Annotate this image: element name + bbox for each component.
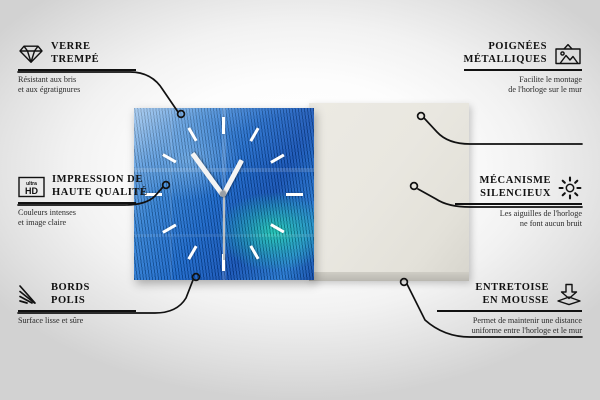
callout-title-line2: SILENCIEUX <box>480 188 551 201</box>
callout-title-line1: IMPRESSION DE <box>52 174 148 187</box>
callout-entretoise-en-mousse: ENTRETOISE EN MOUSSE Permet de maintenir… <box>437 282 582 336</box>
callout-desc-line2: et image claire <box>18 218 136 228</box>
callout-desc-line2: de l'horloge sur le mur <box>464 85 582 95</box>
callout-rule <box>464 69 582 71</box>
callout-bords-polis: BORDS POLIS Surface lisse et sûre <box>18 282 136 326</box>
callout-rule <box>18 69 136 71</box>
callout-title-line2: EN MOUSSE <box>475 295 549 308</box>
callout-rule <box>437 310 582 312</box>
callout-desc-line1: Résistant aux bris <box>18 75 136 85</box>
gear-icon <box>558 176 582 200</box>
callout-mecanisme-silencieux: MÉCANISME SILENCIEUX Les aiguilles de l'… <box>455 175 582 229</box>
callout-desc-line2: uniforme entre l'horloge et le mur <box>437 326 582 336</box>
callout-desc-line2: ne font aucun bruit <box>455 219 582 229</box>
callout-title-line1: MÉCANISME <box>480 175 551 188</box>
callout-desc-line1: Facilite le montage <box>464 75 582 85</box>
callout-title-line2: MÉTALLIQUES <box>464 54 547 67</box>
svg-text:HD: HD <box>25 185 38 195</box>
callout-desc-line1: Permet de maintenir une distance <box>437 316 582 326</box>
callout-rule <box>455 203 582 205</box>
arrow-down-pad-icon <box>556 283 582 306</box>
callout-rule <box>18 310 136 312</box>
callout-title-line1: POIGNÉES <box>464 41 547 54</box>
callout-title-line1: VERRE <box>51 41 99 54</box>
callout-title-line1: BORDS <box>51 282 90 295</box>
callout-poignees-metalliques: POIGNÉES MÉTALLIQUES Facilite le montage… <box>464 41 582 95</box>
callout-verre-trempe: VERRE TREMPÉ Résistant aux bris et aux é… <box>18 41 136 95</box>
infographic-canvas: VERRE TREMPÉ Résistant aux bris et aux é… <box>0 0 600 400</box>
callout-title-line1: ENTRETOISE <box>475 282 549 295</box>
callout-desc-line1: Couleurs intenses <box>18 208 136 218</box>
callout-desc-line1: Surface lisse et sûre <box>18 316 136 326</box>
callout-rule <box>18 202 136 204</box>
diamond-icon <box>18 44 44 64</box>
ultra-hd-icon: ultra HD <box>18 176 45 198</box>
polished-edges-icon <box>18 284 44 305</box>
callout-desc-line1: Les aiguilles de l'horloge <box>455 209 582 219</box>
picture-hanger-icon <box>554 43 582 65</box>
callout-title-line2: TREMPÉ <box>51 54 99 67</box>
callout-desc-line2: et aux égratignures <box>18 85 136 95</box>
callout-title-line2: HAUTE QUALITÉ <box>52 187 148 200</box>
callout-impression-haute-qualite: ultra HD IMPRESSION DE HAUTE QUALITÉ Cou… <box>18 174 136 228</box>
callout-title-line2: POLIS <box>51 295 90 308</box>
